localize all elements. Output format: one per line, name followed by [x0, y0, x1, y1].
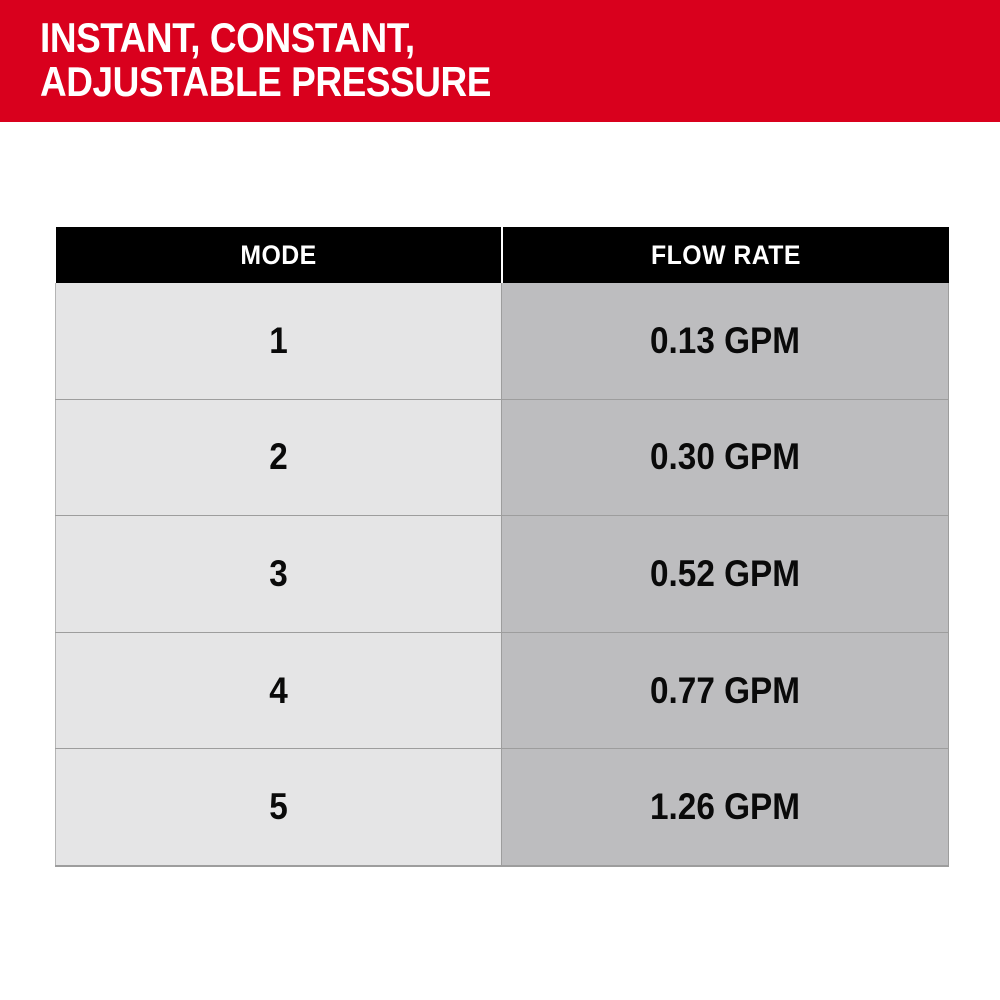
cell-mode: 2 [56, 399, 502, 516]
table-row: 5 1.26 GPM [56, 749, 949, 866]
column-header-mode: MODE [56, 227, 502, 283]
cell-flow-rate: 0.30 GPM [502, 399, 949, 516]
cell-flow-rate-value: 0.77 GPM [524, 670, 925, 712]
flow-rate-table: MODE FLOW RATE 1 0.13 GPM [55, 227, 949, 867]
spec-sheet-page: INSTANT, CONSTANT, ADJUSTABLE PRESSURE M… [0, 0, 1000, 1000]
column-header-flow-rate-label: FLOW RATE [520, 240, 930, 271]
page-title: INSTANT, CONSTANT, ADJUSTABLE PRESSURE [40, 16, 858, 104]
table-row: 4 0.77 GPM [56, 632, 949, 749]
column-header-mode-label: MODE [73, 240, 482, 271]
header-banner: INSTANT, CONSTANT, ADJUSTABLE PRESSURE [0, 0, 1000, 122]
cell-flow-rate: 0.13 GPM [502, 283, 949, 399]
cell-flow-rate-value: 0.52 GPM [524, 553, 925, 595]
table-header: MODE FLOW RATE [56, 227, 949, 283]
cell-flow-rate-value: 0.30 GPM [524, 436, 925, 478]
cell-flow-rate-value: 0.13 GPM [524, 320, 925, 362]
cell-mode-value: 4 [78, 670, 479, 712]
cell-flow-rate-value: 1.26 GPM [524, 786, 925, 828]
cell-mode: 1 [56, 283, 502, 399]
cell-mode-value: 2 [78, 436, 479, 478]
table-header-row: MODE FLOW RATE [56, 227, 949, 283]
column-header-flow-rate: FLOW RATE [502, 227, 949, 283]
cell-flow-rate: 1.26 GPM [502, 749, 949, 866]
table-body: 1 0.13 GPM 2 0.30 GPM 3 [56, 283, 949, 866]
cell-flow-rate: 0.52 GPM [502, 516, 949, 633]
table-row: 2 0.30 GPM [56, 399, 949, 516]
flow-rate-table-wrapper: MODE FLOW RATE 1 0.13 GPM [55, 227, 946, 861]
table-row: 3 0.52 GPM [56, 516, 949, 633]
cell-mode-value: 1 [78, 320, 479, 362]
table-row: 1 0.13 GPM [56, 283, 949, 399]
cell-mode-value: 3 [78, 553, 479, 595]
cell-mode-value: 5 [78, 786, 479, 828]
cell-mode: 3 [56, 516, 502, 633]
cell-mode: 5 [56, 749, 502, 866]
cell-flow-rate: 0.77 GPM [502, 632, 949, 749]
cell-mode: 4 [56, 632, 502, 749]
